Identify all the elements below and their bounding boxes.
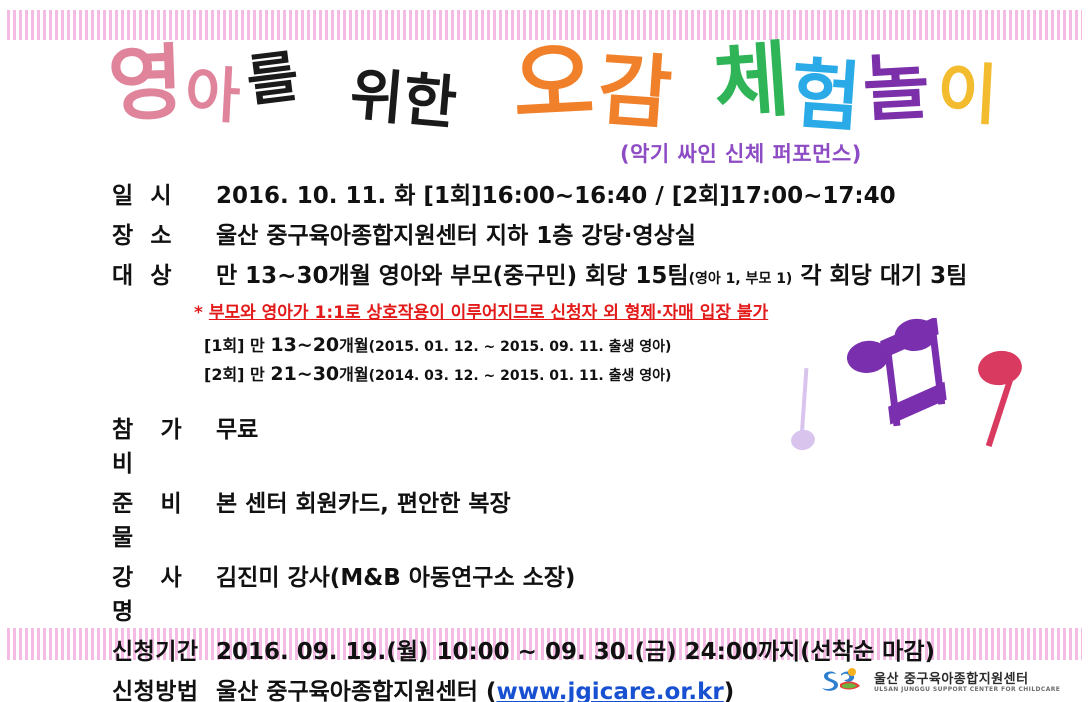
session-2-range: 21~30 (270, 363, 339, 385)
music-notes-decoration (770, 318, 1050, 467)
info-row-target: 대 상 만 13~30개월 영아와 부모(중구민) 회당 15팀(영아 1, 부… (112, 256, 1012, 290)
title-char-1: 영 (107, 43, 185, 128)
center-website-link[interactable]: www.jgicare.or.kr (496, 679, 723, 702)
value-target-main-1: 만 13~30개월 영아와 부모(중구민) 회당 15팀 (216, 263, 689, 289)
organization-logo: 울산 중구육아종합지원센터 ULSAN JUNGGU SUPPORT CENTE… (820, 668, 1060, 698)
info-row-apply-period: 신청기간 2016. 09. 19.(월) 10:00 ~ 09. 30.(금)… (112, 632, 1012, 666)
poster-canvas: 영아를위한오감체험놀이 (악기 싸인 신체 퍼포먼스) 일 시 2016. 10… (0, 0, 1089, 702)
label-apply-method: 신청방법 (112, 672, 216, 702)
value-place: 울산 중구육아종합지원센터 지하 1층 강당·영상실 (216, 216, 696, 250)
organization-logo-text: 울산 중구육아종합지원센터 ULSAN JUNGGU SUPPORT CENTE… (874, 673, 1060, 694)
session-2-unit: 개월 (339, 365, 368, 384)
info-row-datetime: 일 시 2016. 10. 11. 화 [1회]16:00~16:40 / [2… (112, 176, 1012, 210)
sc-logo-mark-icon (820, 668, 866, 698)
label-instructor: 강 사 명 (112, 558, 216, 626)
info-row-place: 장 소 울산 중구육아종합지원센터 지하 1층 강당·영상실 (112, 216, 1012, 250)
value-apply-period: 2016. 09. 19.(월) 10:00 ~ 09. 30.(금) 24:0… (216, 632, 935, 666)
value-datetime: 2016. 10. 11. 화 [1회]16:00~16:40 / [2회]17… (216, 176, 896, 210)
session-1-unit: 개월 (339, 336, 368, 355)
title-char-5: 오 (511, 38, 596, 130)
value-target-main-2: 각 회당 대기 3팀 (800, 263, 967, 289)
session-1-prefix: [1회] 만 (204, 336, 270, 355)
warning-marker: * (194, 303, 203, 323)
page-title: 영아를위한오감체험놀이 (108, 36, 988, 144)
value-instructor: 김진미 강사(M&B 아동연구소 소장) (216, 558, 575, 592)
value-bring: 본 센터 회원카드, 편안한 복장 (216, 484, 511, 518)
title-char-4: 위한 (348, 65, 459, 132)
label-fee: 참 가 비 (112, 410, 216, 478)
value-target-small: (영아 1, 부모 1) (689, 271, 793, 287)
label-place: 장 소 (112, 216, 216, 250)
value-apply-method: 울산 중구육아종합지원센터 (www.jgicare.or.kr) (216, 672, 734, 702)
session-1-detail: (2015. 01. 12. ~ 2015. 09. 11. 출생 영아) (369, 339, 672, 355)
apply-method-suffix: ) (724, 679, 735, 702)
title-char-8: 험 (788, 56, 863, 137)
label-target: 대 상 (112, 256, 216, 290)
quarter-note-lavender-icon (789, 368, 817, 452)
page-subtitle: (악기 싸인 신체 퍼포먼스) (620, 138, 862, 168)
session-2-prefix: [2회] 만 (204, 365, 270, 384)
value-target: 만 13~30개월 영아와 부모(중구민) 회당 15팀(영아 1, 부모 1)… (216, 256, 967, 290)
info-row-instructor: 강 사 명 김진미 강사(M&B 아동연구소 소장) (112, 558, 1012, 626)
title-char-7: 체 (711, 39, 792, 126)
title-char-6: 감 (595, 50, 674, 135)
warning-text: 부모와 영아가 1:1로 상호작용이 이루어지므로 신청자 외 형제·자매 입장… (209, 303, 768, 323)
organization-name-kr: 울산 중구육아종합지원센터 (874, 673, 1060, 687)
title-char-10: 이 (935, 60, 999, 129)
quarter-note-crimson-icon (976, 348, 1024, 447)
value-fee: 무료 (216, 410, 258, 444)
beamed-eighth-notes-purple-icon (843, 318, 949, 431)
organization-name-en: ULSAN JUNGGU SUPPORT CENTER FOR CHILDCAR… (874, 687, 1060, 694)
title-char-3: 를 (243, 49, 301, 111)
session-1-range: 13~20 (270, 334, 339, 356)
label-apply-period: 신청기간 (112, 632, 216, 666)
label-datetime: 일 시 (112, 176, 216, 210)
apply-method-prefix: 울산 중구육아종합지원센터 ( (216, 679, 496, 702)
label-bring: 준 비 물 (112, 484, 216, 552)
title-char-9: 놀 (861, 50, 931, 125)
session-2-detail: (2014. 03. 12. ~ 2015. 01. 11. 출생 영아) (369, 368, 672, 384)
info-row-bring: 준 비 물 본 센터 회원카드, 편안한 복장 (112, 484, 1012, 552)
title-char-2: 아 (184, 65, 242, 128)
